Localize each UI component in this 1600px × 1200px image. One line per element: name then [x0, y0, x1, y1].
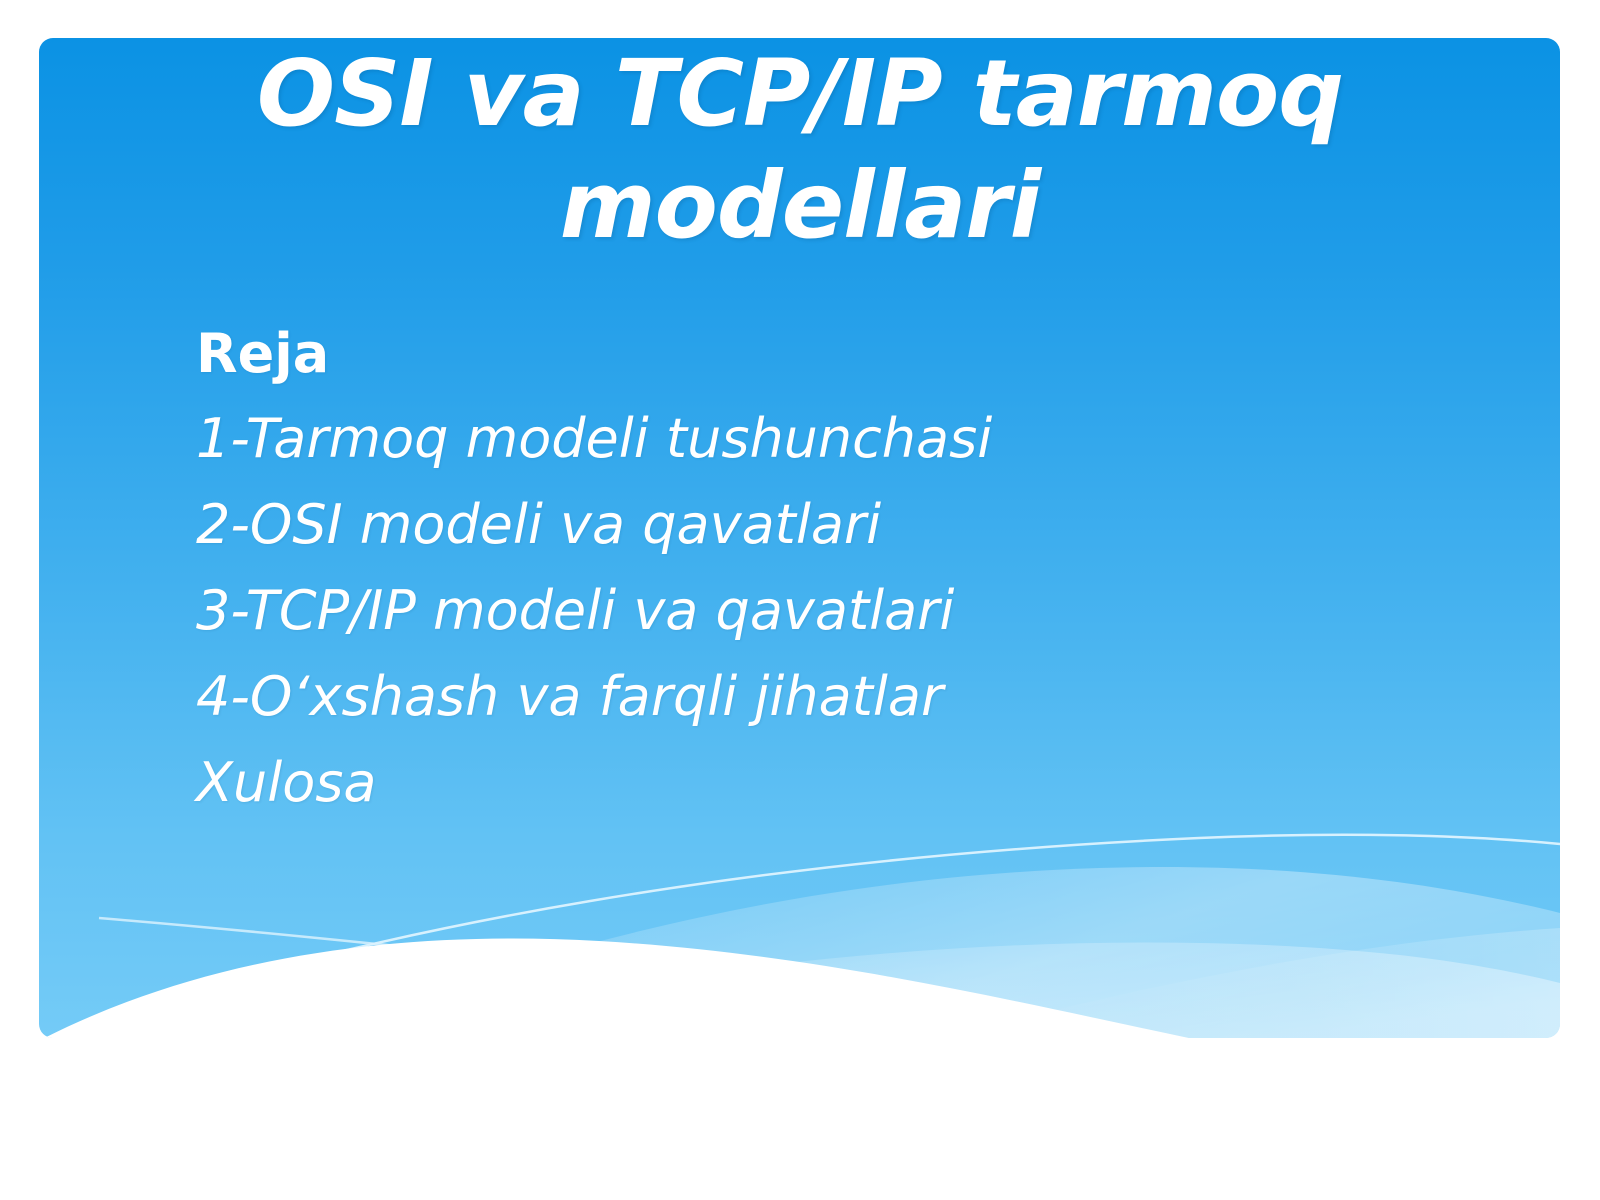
- agenda-item-3: 3-TCP/IP modeli va qavatlari: [196, 568, 1376, 654]
- title-block: OSI va TCP/IP tarmoq modellari: [200, 38, 1400, 262]
- agenda-block: Reja 1-Tarmoq modeli tushunchasi 2-OSI m…: [196, 312, 1376, 826]
- agenda-item-conclusion: Xulosa: [196, 740, 1376, 826]
- page-title: OSI va TCP/IP tarmoq modellari: [200, 38, 1400, 262]
- agenda-item-2: 2-OSI modeli va qavatlari: [196, 482, 1376, 568]
- agenda-heading: Reja: [196, 312, 1376, 396]
- slide-content: OSI va TCP/IP tarmoq modellari Reja 1-Ta…: [0, 0, 1600, 1200]
- agenda-item-1: 1-Tarmoq modeli tushunchasi: [196, 396, 1376, 482]
- agenda-item-4: 4-Oʻxshash va farqli jihatlar: [196, 654, 1376, 740]
- presentation-slide: OSI va TCP/IP tarmoq modellari Reja 1-Ta…: [0, 0, 1600, 1200]
